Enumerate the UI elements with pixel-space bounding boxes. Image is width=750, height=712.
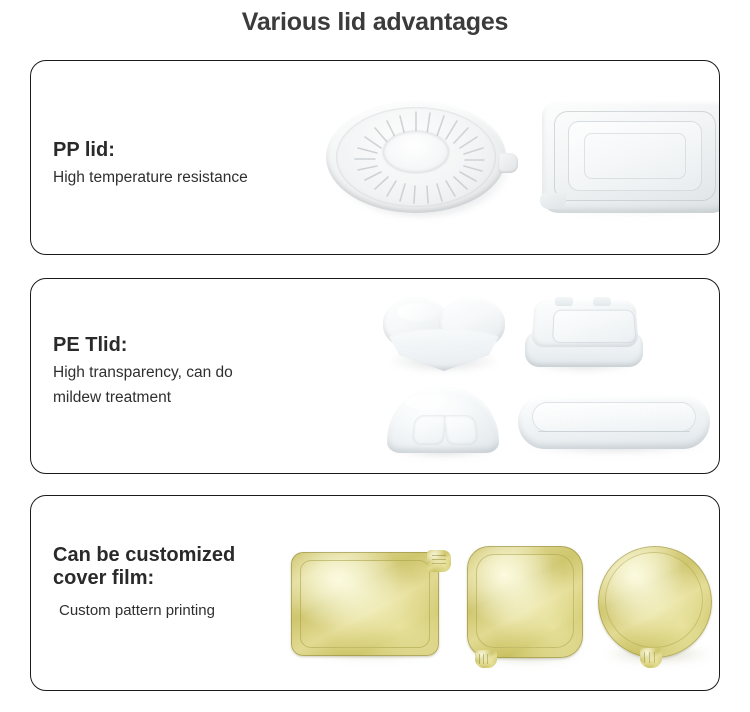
gold-round-cover-film-icon [596, 544, 720, 672]
dome-pe-lid-icon [387, 387, 501, 461]
lid-facet-right [443, 415, 478, 445]
pe-lid-heading: PE Tlid: [53, 334, 233, 357]
pe-lid-description: High transparency, can do mildew treatme… [53, 360, 233, 410]
cover-film-heading: Can be customized cover film: [53, 544, 235, 590]
square-pe-lid-icon [523, 297, 645, 375]
lid-highlight [405, 394, 451, 410]
film-inner-panel [476, 554, 574, 648]
round-ribbed-pp-lid-icon [326, 95, 516, 219]
lid-highlight [397, 303, 441, 321]
lid-center-hub [383, 131, 449, 173]
oval-pe-lid-icon [518, 395, 714, 457]
lid-tab-right [593, 297, 611, 306]
pp-lid-text-block: PP lid: High temperature resistance [53, 139, 248, 190]
card-pe-lid: PE Tlid: High transparency, can do milde… [30, 278, 720, 474]
card-pp-lid: PP lid: High temperature resistance [30, 60, 720, 255]
infographic-page: Various lid advantages PP lid: High temp… [0, 0, 750, 712]
card-custom-cover-film: Can be customized cover film: Custom pat… [30, 495, 720, 691]
heart-shaped-pe-lid-icon [383, 295, 505, 377]
page-title: Various lid advantages [0, 8, 750, 37]
rectangular-pp-lid-icon [536, 93, 720, 225]
pp-lid-heading: PP lid: [53, 139, 248, 162]
lid-tab-left [555, 297, 573, 306]
gold-square-cover-film-icon [463, 544, 597, 672]
film-inner-panel [300, 560, 430, 648]
lid-inner-panel [552, 310, 637, 343]
pp-lid-description: High temperature resistance [53, 165, 248, 190]
lid-pull-tab [540, 193, 566, 209]
film-pull-tab [640, 648, 662, 668]
gold-rectangular-cover-film-icon [289, 546, 455, 668]
cover-film-text-block: Can be customized cover film: Custom pat… [53, 544, 235, 623]
lid-facet-left [411, 415, 446, 445]
lid-pull-tab [498, 153, 518, 173]
lid-inner-panel [532, 402, 696, 432]
film-pull-tab [427, 550, 451, 572]
cover-film-description: Custom pattern printing [59, 599, 235, 623]
pe-lid-text-block: PE Tlid: High transparency, can do milde… [53, 334, 233, 410]
film-pull-tab [475, 650, 497, 668]
film-inner-panel [605, 552, 703, 648]
lid-top-panel [531, 301, 639, 348]
lid-emboss-ring-inner [584, 133, 686, 179]
